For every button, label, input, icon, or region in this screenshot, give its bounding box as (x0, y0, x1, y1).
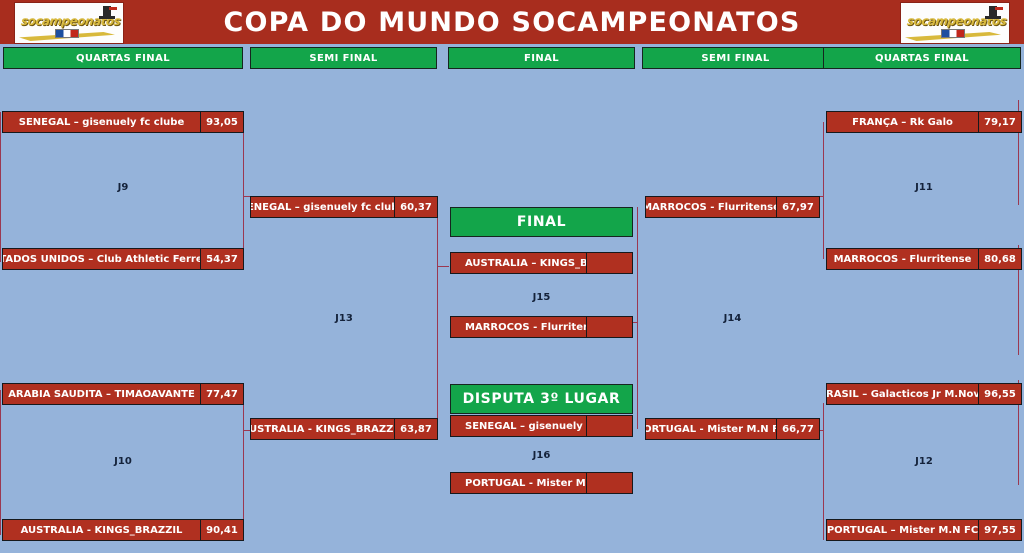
team-name: MARROCOS - Flurritense (827, 254, 978, 265)
team-name: BRASIL – Galacticos Jr M.Nova (827, 389, 978, 400)
match-label-j13: J13 (250, 313, 438, 324)
team-name: SENEGAL – gisenuely fc clube (251, 202, 394, 213)
team-score: 79,17 (978, 112, 1021, 132)
hat-band-shape (995, 7, 1003, 10)
connector-j13-out (437, 266, 449, 267)
team-name: AUSTRÁLIA – KINGS_BRAZZIL (451, 258, 586, 269)
team-name: MARROCOS - Flurritense (646, 202, 776, 213)
match-j9-bottom[interactable]: ESTADOS UNIDOS – Club Athletic Ferreira … (2, 248, 244, 270)
match-j15-top[interactable]: AUSTRÁLIA – KINGS_BRAZZIL (450, 252, 633, 274)
match-j13-top[interactable]: SENEGAL – gisenuely fc clube 60,37 (250, 196, 438, 218)
team-score: 60,37 (394, 197, 437, 217)
logo-left: socampeonatos (14, 2, 124, 44)
match-j10-top[interactable]: ARABIA SAUDITA – TIMÃOAVANTE 77,47 (2, 383, 244, 405)
team-score: 96,55 (978, 384, 1021, 404)
round-bar-label: SEMI FINAL (309, 53, 377, 64)
team-score: 93,05 (200, 112, 243, 132)
team-score: 97,55 (978, 520, 1021, 540)
team-score (586, 253, 632, 273)
match-label-j10: J10 (2, 456, 244, 467)
team-name: ESTADOS UNIDOS – Club Athletic Ferreira (3, 254, 200, 265)
final-header-label: FINAL (517, 214, 566, 230)
team-name: PORTUGAL - Mister M.N FC (451, 478, 586, 489)
team-score: 66,77 (776, 419, 819, 439)
logo-right: socampeonatos (900, 2, 1010, 44)
team-name: FRANÇA – Rk Galo (827, 117, 978, 128)
match-label-j11: J11 (826, 182, 1022, 193)
round-bar-semi-left: SEMI FINAL (250, 47, 437, 69)
match-label-j16: J16 (450, 450, 633, 461)
match-j14-bottom[interactable]: PORTUGAL - Mister M.N FC 66,77 (645, 418, 820, 440)
match-j15-bottom[interactable]: MARROCOS - Flurritense (450, 316, 633, 338)
match-j11-top[interactable]: FRANÇA – Rk Galo 79,17 (826, 111, 1022, 133)
team-score: 80,68 (978, 249, 1021, 269)
match-j14-top[interactable]: MARROCOS - Flurritense 67,97 (645, 196, 820, 218)
team-name: PORTUGAL - Mister M.N FC (646, 424, 776, 435)
team-name: PORTUGAL – Mister M.N FC (827, 525, 978, 536)
round-bar-final: FINAL (448, 47, 635, 69)
final-header: FINAL (450, 207, 633, 237)
round-bar-label: FINAL (524, 53, 559, 64)
match-label-j14: J14 (645, 313, 820, 324)
team-score (586, 317, 632, 337)
team-name: AUSTRÁLIA - KINGS_BRAZZIL (3, 525, 200, 536)
connector-left-edge-top (0, 112, 1, 262)
team-score: 77,47 (200, 384, 243, 404)
team-score: 67,97 (776, 197, 819, 217)
match-j16-bottom[interactable]: PORTUGAL - Mister M.N FC (450, 472, 633, 494)
title-bar: COPA DO MUNDO SOCAMPEONATOS (0, 0, 1024, 44)
page-title: COPA DO MUNDO SOCAMPEONATOS (223, 7, 800, 38)
team-name: MARROCOS - Flurritense (451, 322, 586, 333)
match-j12-top[interactable]: BRASIL – Galacticos Jr M.Nova 96,55 (826, 383, 1022, 405)
team-name: SENEGAL – gisenuely fc clube (3, 117, 200, 128)
match-j9-top[interactable]: SENEGAL – gisenuely fc clube 93,05 (2, 111, 244, 133)
team-score (586, 473, 632, 493)
round-bar-label: QUARTAS FINAL (875, 53, 969, 64)
match-label-j15: J15 (450, 292, 633, 303)
team-score: 54,37 (200, 249, 243, 269)
round-bar-quartas-left: QUARTAS FINAL (3, 47, 243, 69)
round-bar-label: SEMI FINAL (701, 53, 769, 64)
round-bar-quartas-right: QUARTAS FINAL (823, 47, 1021, 69)
match-j10-bottom[interactable]: AUSTRÁLIA - KINGS_BRAZZIL 90,41 (2, 519, 244, 541)
team-name: AUSTRÁLIA - KINGS_BRAZZIL (251, 424, 394, 435)
third-place-header: DISPUTA 3º LUGAR (450, 384, 633, 414)
connector-left-edge-bottom (0, 390, 1, 535)
round-bar-label: QUARTAS FINAL (76, 53, 170, 64)
connector-j11-vertical (823, 122, 824, 259)
team-name: ARABIA SAUDITA – TIMÃOAVANTE (3, 389, 200, 400)
team-name: SENEGAL – gisenuely fc clube (451, 421, 586, 432)
connector-j14-vertical (637, 207, 638, 429)
team-score: 63,87 (394, 419, 437, 439)
match-label-j12: J12 (826, 456, 1022, 467)
logo-flag-icon (941, 29, 965, 38)
match-label-j9: J9 (2, 182, 244, 193)
match-j16-top[interactable]: SENEGAL – gisenuely fc clube (450, 415, 633, 437)
round-bar-semi-right: SEMI FINAL (642, 47, 829, 69)
match-j11-bottom[interactable]: MARROCOS - Flurritense 80,68 (826, 248, 1022, 270)
logo-flag-icon (55, 29, 79, 38)
team-score (586, 416, 632, 436)
match-j13-bottom[interactable]: AUSTRÁLIA - KINGS_BRAZZIL 63,87 (250, 418, 438, 440)
hat-band-shape (109, 7, 117, 10)
match-j12-bottom[interactable]: PORTUGAL – Mister M.N FC 97,55 (826, 519, 1022, 541)
team-score: 90,41 (200, 520, 243, 540)
third-place-header-label: DISPUTA 3º LUGAR (463, 391, 621, 407)
connector-j12-vertical (823, 403, 824, 540)
